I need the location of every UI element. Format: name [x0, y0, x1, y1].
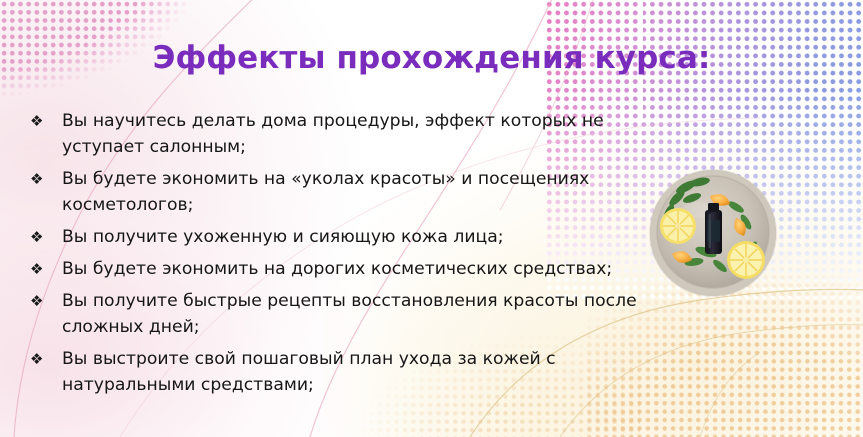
diamond-bullet-icon: ❖: [26, 256, 62, 282]
benefits-list: ❖ Вы научитесь делать дома процедуры, эф…: [26, 108, 726, 404]
list-item: ❖ Вы научитесь делать дома процедуры, эф…: [26, 108, 726, 160]
diamond-bullet-icon: ❖: [26, 108, 62, 134]
list-item-text: Вы будете экономить на дорогих косметиче…: [62, 256, 676, 282]
page-title: Эффекты прохождения курса:: [0, 40, 863, 76]
list-item: ❖ Вы будете экономить на дорогих космети…: [26, 256, 726, 282]
diamond-bullet-icon: ❖: [26, 288, 62, 314]
diamond-bullet-icon: ❖: [26, 224, 62, 250]
list-item: ❖ Вы получите ухоженную и сияющую кожа л…: [26, 224, 726, 250]
diamond-bullet-icon: ❖: [26, 346, 62, 372]
slide-canvas: Эффекты прохождения курса: ❖ Вы научитес…: [0, 0, 863, 437]
list-item-text: Вы будете экономить на «уколах красоты» …: [62, 166, 676, 218]
list-item: ❖ Вы выстроите свой пошаговый план ухода…: [26, 346, 726, 398]
list-item-text: Вы научитесь делать дома процедуры, эффе…: [62, 108, 676, 160]
diamond-bullet-icon: ❖: [26, 166, 62, 192]
list-item-text: Вы выстроите свой пошаговый план ухода з…: [62, 346, 662, 398]
list-item-text: Вы получите быстрые рецепты восстановлен…: [62, 288, 676, 340]
list-item-text: Вы получите ухоженную и сияющую кожа лиц…: [62, 224, 676, 250]
list-item: ❖ Вы получите быстрые рецепты восстановл…: [26, 288, 726, 340]
list-item: ❖ Вы будете экономить на «уколах красоты…: [26, 166, 726, 218]
